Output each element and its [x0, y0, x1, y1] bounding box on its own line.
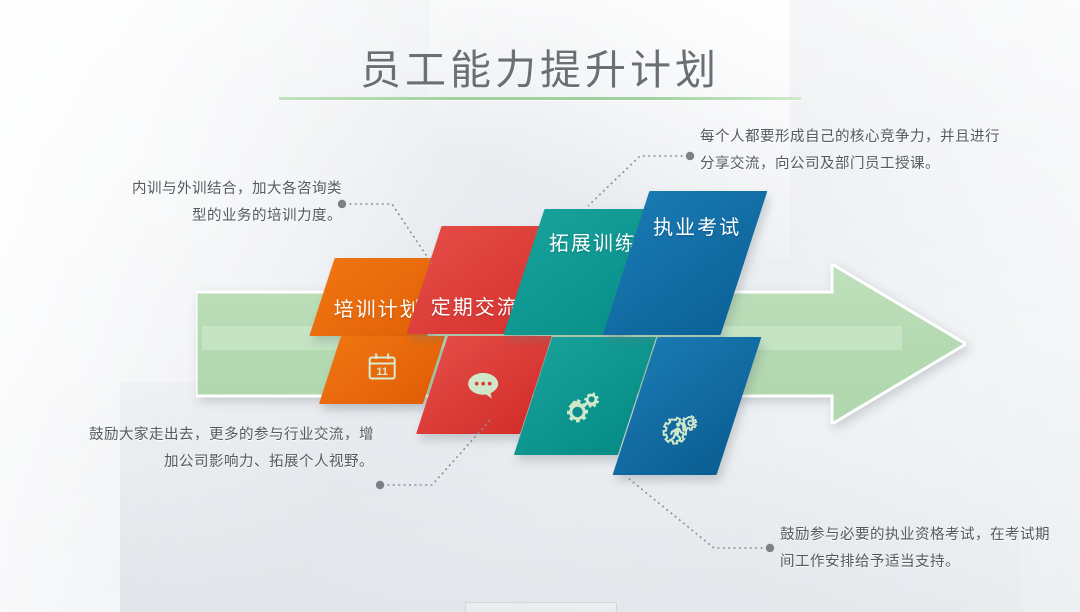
callout-top-left: 内训与外训结合，加大各咨询类型的业务的培训力度。 — [128, 176, 342, 230]
running-person-gear-icon — [626, 412, 730, 457]
title-underline — [279, 97, 801, 100]
connector-stage-1 — [344, 204, 432, 264]
stage-4-label: 执业考试 — [638, 211, 756, 240]
calendar-icon-day: 11 — [376, 366, 388, 378]
gears-icon — [528, 390, 632, 433]
slide-canvas: 员工能力提升计划 培训计划 — [0, 0, 1080, 612]
stage-1-bottom-block[interactable]: 11 — [319, 336, 445, 404]
connector-dot-4 — [766, 544, 774, 552]
bottom-notch-decoration — [465, 602, 617, 612]
connector-dot-3 — [686, 152, 694, 160]
callout-bottom-left: 鼓励大家走出去，更多的参与行业交流，增加公司影响力、拓展个人视野。 — [86, 422, 374, 476]
page-title: 员工能力提升计划 — [0, 36, 1080, 96]
speech-bubble-icon — [431, 369, 535, 406]
callout-bottom-right: 鼓励参与必要的执业资格考试，在考试期间工作安排给予适当支持。 — [780, 522, 1062, 576]
callout-top-right: 每个人都要形成自己的核心竞争力，并且进行分享交流，向公司及部门员工授课。 — [700, 124, 1000, 178]
connector-dot-2 — [376, 481, 384, 489]
calendar-icon: 11 — [330, 350, 434, 389]
connector-stage-4 — [628, 478, 768, 548]
